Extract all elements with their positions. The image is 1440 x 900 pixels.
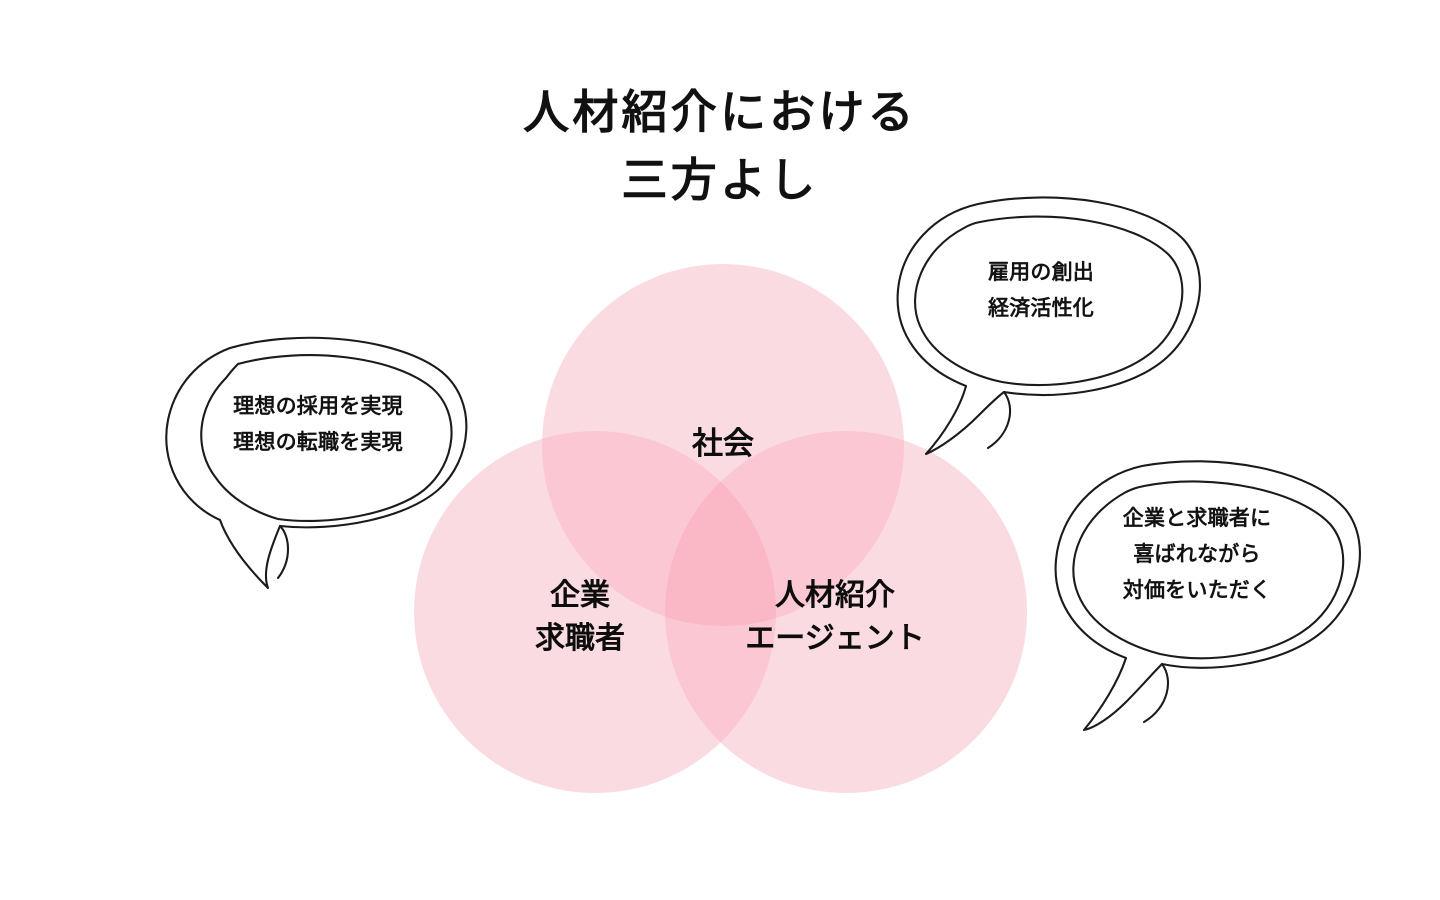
slide-canvas: 人材紹介における 三方よし (0, 0, 1440, 900)
speech-bubble-bottom-right-outline (1022, 452, 1382, 732)
page-title: 人材紹介における 三方よし (0, 78, 1440, 214)
speech-bubble-left-outline (150, 320, 490, 600)
speech-bubble-left: 理想の採用を実現 理想の転職を実現 (150, 320, 490, 600)
speech-bubble-bottom-right: 企業と求職者に 喜ばれながら 対価をいただく (1022, 452, 1382, 732)
speech-bubble-top-right-outline (868, 186, 1218, 456)
speech-bubble-top-right: 雇用の創出 経済活性化 (868, 186, 1218, 456)
